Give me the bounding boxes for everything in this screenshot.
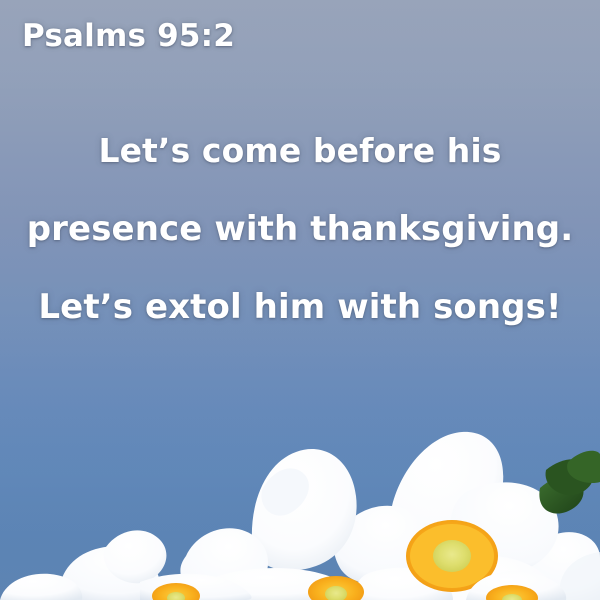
verse-line-1: Let’s come before his [14,112,586,190]
verse-line-3: Let’s extol him with songs! [14,268,586,346]
verse-reference: Psalms 95:2 [22,19,235,53]
flower-photo-foreground [0,370,600,600]
scripture-verse-image: Psalms 95:2 Let’s come before his presen… [0,0,600,600]
verse-line-2: presence with thanksgiving. [14,190,586,268]
leaf-right [539,451,600,514]
verse-text-block: Let’s come before his presence with than… [0,112,600,346]
